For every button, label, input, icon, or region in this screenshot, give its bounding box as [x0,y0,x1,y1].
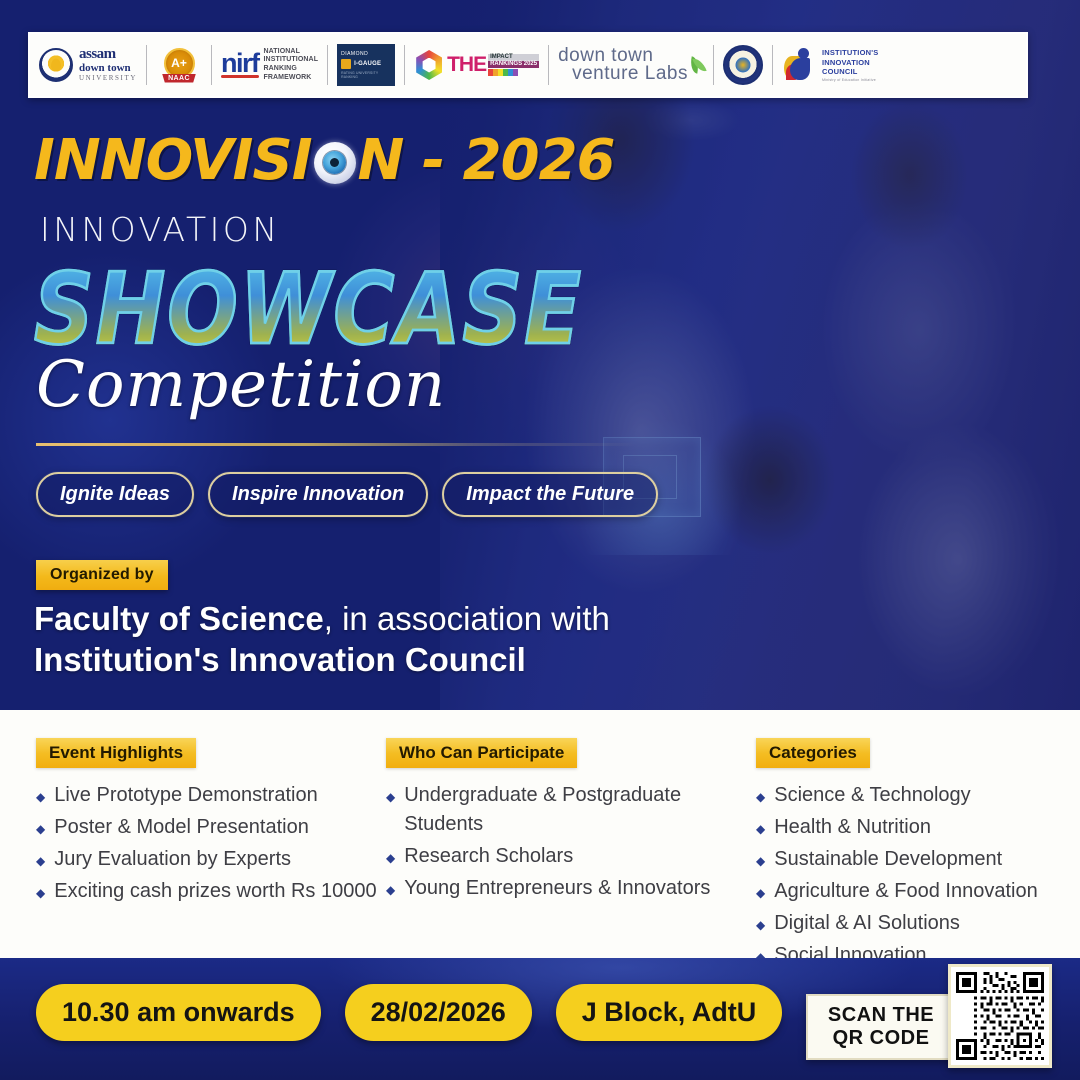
list-item-label: Undergraduate & Postgraduate Students [404,781,756,839]
column-heading-categories: Categories [756,738,870,768]
list-item-label: Digital & AI Solutions [774,909,960,938]
the-wordmark: THE [447,56,486,75]
scan-line-1: SCAN THE [828,1004,934,1027]
diamond-bullet-icon: ◆ [756,853,765,870]
list-item-label: Jury Evaluation by Experts [54,845,291,874]
the-rank-line2: RANKINGS 2025 [488,61,539,68]
qr-code-icon[interactable] [948,964,1052,1068]
list-item: ◆Undergraduate & Postgraduate Students [386,781,756,839]
event-title-part2: N - 2026 [358,128,615,193]
event-title: INNOVISI N - 2026 [34,128,615,193]
diamond-bullet-icon: ◆ [756,789,765,806]
igauge-mark: I-GAUGE [354,61,381,67]
eye-icon [314,142,356,184]
list-item: ◆Science & Technology [756,781,1076,810]
diamond-bullet-icon: ◆ [756,917,765,934]
list-item: ◆Exciting cash prizes worth Rs 10000 [36,877,386,906]
logo-assam-down-town-university: assam down town UNIVERSITY [30,34,146,96]
scan-line-2: QR CODE [833,1027,930,1050]
diamond-bullet-icon: ◆ [36,789,45,806]
event-title-part1: INNOVISI [34,128,312,193]
gold-divider [36,443,636,446]
qr-code-svg [956,972,1044,1060]
poster-canvas: assam down town UNIVERSITY A+ NAAC nirf … [0,0,1080,1080]
diamond-bullet-icon: ◆ [756,821,765,838]
list-item-label: Science & Technology [774,781,970,810]
footer-bar: 10.30 am onwards 28/02/2026 J Block, Adt… [0,958,1080,1080]
adtu-line1: assam [79,47,137,62]
event-highlights-list: ◆Live Prototype Demonstration ◆Poster & … [36,781,386,906]
list-item: ◆Poster & Model Presentation [36,813,386,842]
the-colorbars-icon [488,69,539,76]
categories-list: ◆Science & Technology ◆Health & Nutritio… [756,781,1076,970]
column-heading-who-can-participate: Who Can Participate [386,738,577,768]
the-hexagon-icon [414,50,444,80]
tagline-pill-group: Ignite Ideas Inspire Innovation Impact t… [36,472,658,517]
footer-pill-date: 28/02/2026 [345,984,532,1041]
competition-script-title: Competition [36,348,446,422]
list-item: ◆Jury Evaluation by Experts [36,845,386,874]
igauge-tier: DIAMOND [341,51,391,57]
logo-adtu-seal [714,34,772,96]
iic-line1: INSTITUTION'S [822,48,878,58]
the-rank-line1: IMPACT [488,54,539,61]
nirf-wordmark: nirf [221,52,259,79]
diamond-bullet-icon: ◆ [386,789,395,806]
tagline-pill-ignite-ideas: Ignite Ideas [36,472,194,517]
organizer-line-2: Institution's Innovation Council [34,641,526,679]
igauge-square-icon [341,59,351,69]
info-column-event-highlights: Event Highlights ◆Live Prototype Demonst… [36,738,386,958]
footer-pill-venue: J Block, AdtU [556,984,783,1041]
logo-i-gauge: DIAMOND I-GAUGE RATING UNIVERSITY RANKIN… [328,34,404,96]
list-item-label: Research Scholars [404,842,573,871]
logo-down-town-venture-labs: down town venture Labs [549,34,713,96]
list-item: ◆Research Scholars [386,842,756,871]
list-item-label: Sustainable Development [774,845,1002,874]
list-item-label: Live Prototype Demonstration [54,781,317,810]
nirf-line2: INSTITUTIONAL [264,56,319,65]
list-item-label: Agriculture & Food Innovation [774,877,1038,906]
list-item: ◆Young Entrepreneurs & Innovators [386,874,756,903]
adtu-line3: UNIVERSITY [79,74,137,82]
iic-line3: COUNCIL [822,67,878,77]
who-can-participate-list: ◆Undergraduate & Postgraduate Students ◆… [386,781,756,903]
footer-pill-time: 10.30 am onwards [36,984,321,1041]
diamond-bullet-icon: ◆ [36,821,45,838]
organizer-faculty: Faculty of Science [34,600,324,637]
logo-the-impact-rankings: THE IMPACT RANKINGS 2025 [405,34,548,96]
nirf-line3: RANKING [264,65,319,74]
logo-nirf: nirf NATIONAL INSTITUTIONAL RANKING FRAM… [212,34,327,96]
list-item-label: Health & Nutrition [774,813,931,842]
university-crest-icon [39,48,73,82]
tagline-pill-inspire-innovation: Inspire Innovation [208,472,428,517]
tagline-pill-impact-the-future: Impact the Future [442,472,658,517]
iic-sub: Ministry of Education Initiative [822,78,878,82]
info-column-categories: Categories ◆Science & Technology ◆Health… [756,738,1076,958]
column-heading-event-highlights: Event Highlights [36,738,196,768]
list-item-label: Poster & Model Presentation [54,813,309,842]
iic-line2: INNOVATION [822,58,878,68]
list-item: ◆Health & Nutrition [756,813,1076,842]
diamond-bullet-icon: ◆ [36,853,45,870]
list-item-label: Exciting cash prizes worth Rs 10000 [54,877,376,906]
iic-figure-icon [782,48,816,82]
igauge-sub: RATING UNIVERSITY RANKING [341,71,391,79]
organizer-assoc-text: , in association with [324,600,610,637]
list-item: ◆Digital & AI Solutions [756,909,1076,938]
adtu-seal-icon [723,45,763,85]
footer-pill-group: 10.30 am onwards 28/02/2026 J Block, Adt… [36,984,782,1041]
nirf-line4: FRAMEWORK [264,74,319,83]
info-section: Event Highlights ◆Live Prototype Demonst… [0,710,1080,958]
diamond-bullet-icon: ◆ [386,850,395,867]
naac-label: NAAC [162,74,196,83]
list-item-label: Young Entrepreneurs & Innovators [404,874,710,903]
nirf-line1: NATIONAL [264,48,319,57]
list-item: ◆Agriculture & Food Innovation [756,877,1076,906]
subtitle-innovation: INNOVATION [40,210,281,249]
diamond-bullet-icon: ◆ [36,885,45,902]
logo-institutions-innovation-council: INSTITUTION'S INNOVATION COUNCIL Ministr… [773,34,887,96]
diamond-bullet-icon: ◆ [386,882,395,899]
diamond-bullet-icon: ◆ [756,885,765,902]
info-column-who-can-participate: Who Can Participate ◆Undergraduate & Pos… [386,738,756,958]
list-item: ◆Live Prototype Demonstration [36,781,386,810]
organizer-line-1: Faculty of Science, in association with [34,600,610,638]
scan-the-qr-code-label: SCAN THE QR CODE [806,994,956,1060]
list-item: ◆Sustainable Development [756,845,1076,874]
adtu-line2: down town [79,62,137,74]
accreditation-logo-bar: assam down town UNIVERSITY A+ NAAC nirf … [28,32,1028,98]
logo-naac: A+ NAAC [147,34,211,96]
organized-by-badge: Organized by [36,560,168,590]
dtvl-line2: venture Labs [572,65,688,83]
